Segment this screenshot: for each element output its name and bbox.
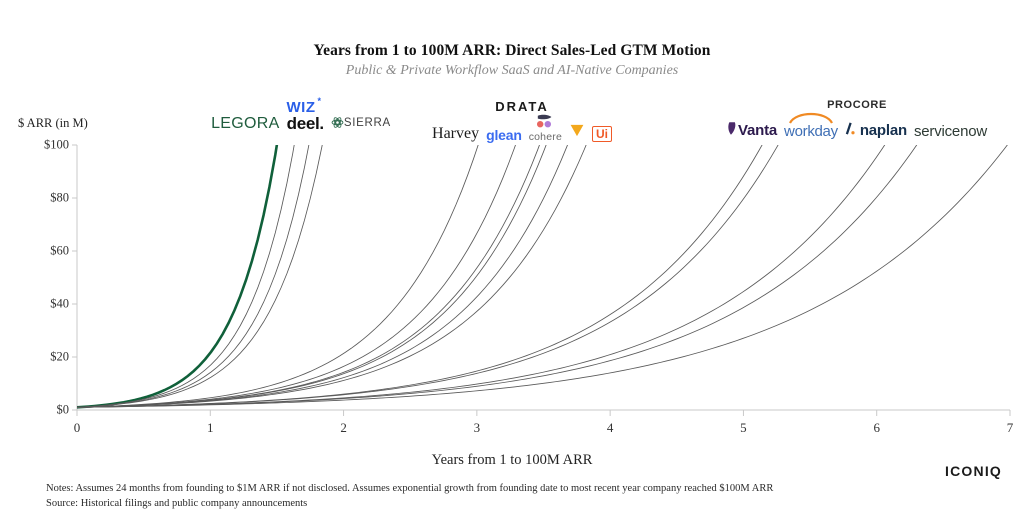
logo-row: DRATA — [495, 100, 549, 113]
logo-row: WIZ* — [287, 100, 316, 115]
logo-group-fast-cohort: WIZ*LEGORAdeel.SIERRA — [210, 100, 392, 132]
y-tick-label: $80 — [9, 191, 69, 206]
logo-label: cohere — [529, 132, 562, 143]
x-tick-label: 6 — [857, 420, 897, 436]
x-tick-label: 0 — [57, 420, 97, 436]
y-tick-label: $20 — [9, 350, 69, 365]
logo-workday[interactable]: workday — [784, 111, 838, 139]
logo-label: Harvey — [432, 126, 479, 142]
logo-vanta[interactable]: Vanta — [727, 121, 777, 139]
logo-group-slow-cohort: PROCOREVantaworkdaynaplanservicenow — [694, 100, 1020, 139]
logo-drata[interactable]: DRATA — [495, 100, 549, 113]
logo-row: Vantaworkdaynaplanservicenow — [727, 111, 987, 139]
x-tick-label: 3 — [457, 420, 497, 436]
logo-label: Vanta — [738, 123, 777, 138]
logo-label: servicenow — [914, 124, 987, 139]
logo-label: PROCORE — [827, 100, 887, 111]
sierra-flower-icon — [331, 116, 344, 133]
x-tick-label: 4 — [590, 420, 630, 436]
logo-vercel[interactable] — [569, 123, 585, 142]
anaplan-a-icon — [845, 121, 860, 139]
logo-label: WIZ — [287, 100, 316, 115]
logo-servicenow[interactable]: servicenow — [914, 124, 987, 139]
logo-sierra[interactable]: SIERRA — [331, 116, 391, 133]
y-tick-label: $40 — [9, 297, 69, 312]
logo-procore[interactable]: PROCORE — [827, 100, 887, 111]
logo-row: LEGORAdeel.SIERRA — [211, 115, 391, 132]
vanta-icon — [727, 121, 738, 139]
chart-page: Years from 1 to 100M ARR: Direct Sales-L… — [0, 0, 1024, 511]
vercel-triangle-icon — [569, 123, 585, 142]
logo-legora[interactable]: LEGORA — [211, 116, 280, 132]
x-tick-label: 2 — [324, 420, 364, 436]
logo-anaplan[interactable]: naplan — [845, 121, 907, 139]
logo-deel[interactable]: deel. — [287, 115, 324, 132]
chart-source: Source: Historical filings and public co… — [46, 498, 307, 509]
logo-group-mid-cohort: DRATAHarveygleancohereUi — [444, 100, 600, 142]
logo-row: HarveygleancohereUi — [432, 113, 612, 142]
logo-label: LEGORA — [211, 116, 280, 132]
iconiq-logo: ICONIQ — [945, 463, 1002, 479]
logo-label: DRATA — [495, 100, 549, 113]
logo-glean[interactable]: glean — [486, 128, 522, 142]
logo-label: SIERRA — [344, 118, 391, 130]
logo-label: naplan — [860, 123, 907, 138]
logo-label: workday — [784, 124, 838, 139]
logo-uipath[interactable]: Ui — [592, 126, 612, 142]
cohere-icon — [535, 113, 555, 132]
logo-label: Ui — [596, 128, 608, 140]
wiz-asterisk-icon: * — [317, 97, 321, 106]
logo-label: deel. — [287, 115, 324, 132]
logo-harvey[interactable]: Harvey — [432, 126, 479, 142]
logo-cohere[interactable]: cohere — [529, 113, 562, 142]
y-tick-label: $0 — [9, 403, 69, 418]
x-tick-label: 7 — [990, 420, 1024, 436]
logo-wiz[interactable]: WIZ* — [287, 100, 316, 115]
logo-row: PROCORE — [827, 100, 887, 111]
logo-label: glean — [486, 128, 522, 142]
x-tick-label: 1 — [190, 420, 230, 436]
x-tick-label: 5 — [723, 420, 763, 436]
y-tick-label: $100 — [9, 138, 69, 153]
chart-notes: Notes: Assumes 24 months from founding t… — [46, 483, 773, 494]
y-tick-label: $60 — [9, 244, 69, 259]
